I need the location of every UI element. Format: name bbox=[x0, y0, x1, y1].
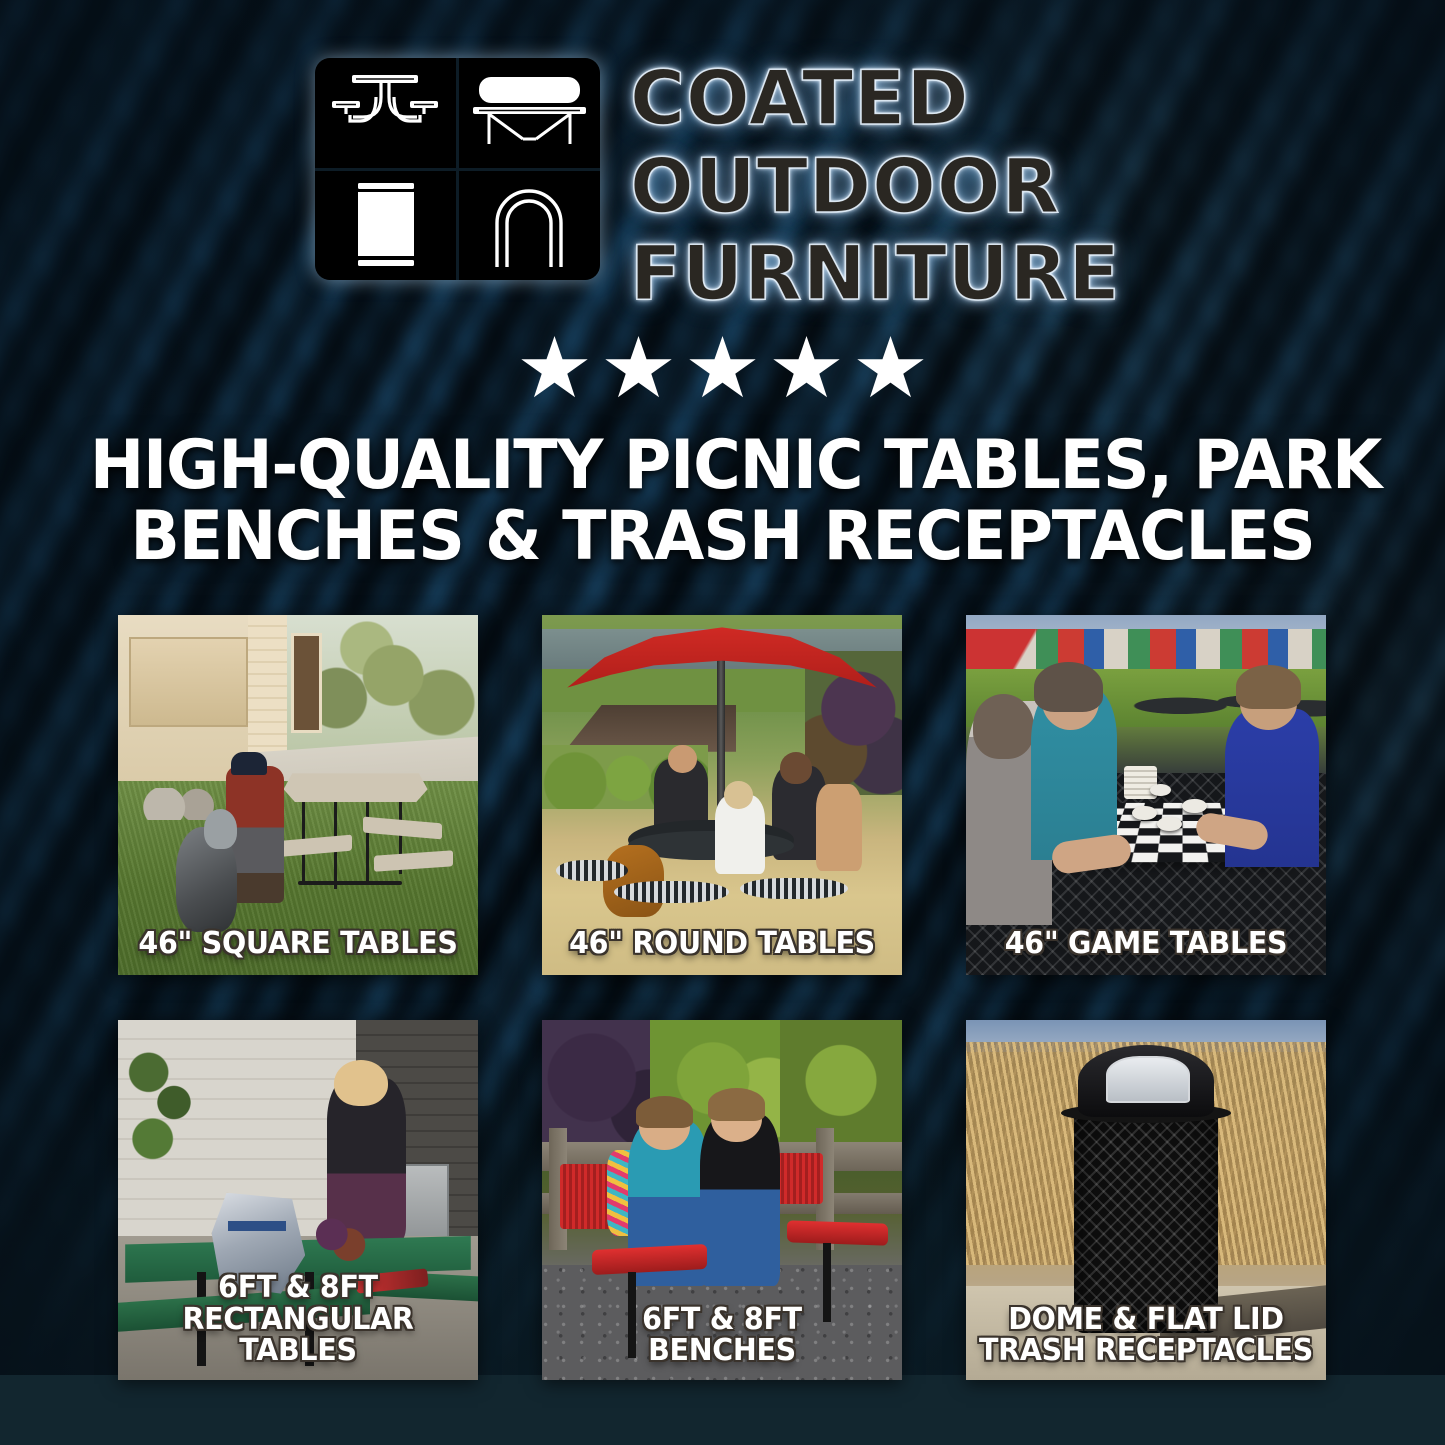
product-tile-square-tables[interactable]: 46" SQUARE TABLES bbox=[118, 615, 478, 975]
promotional-banner: COATED OUTDOOR FURNITURE HIGH-QUALITY PI… bbox=[0, 0, 1445, 1445]
brand-wordmark: COATED OUTDOOR FURNITURE bbox=[630, 58, 1130, 311]
tile-caption-line-1: DOME & FLAT LID bbox=[975, 1304, 1317, 1335]
star-icon bbox=[773, 336, 841, 402]
product-tile-rectangular-tables[interactable]: 6FT & 8FT RECTANGULAR TABLES bbox=[118, 1020, 478, 1380]
tile-caption-line-1: 46" SQUARE TABLES bbox=[127, 929, 469, 959]
product-category-grid: 46" SQUARE TABLES bbox=[118, 615, 1326, 1380]
headline-line-2: BENCHES & TRASH RECEPTACLES bbox=[90, 501, 1355, 572]
picnic-table-icon bbox=[315, 58, 456, 168]
wordmark-line-2: OUTDOOR bbox=[630, 150, 1060, 224]
product-tile-game-tables[interactable]: 46" GAME TABLES bbox=[966, 615, 1326, 975]
headline-line-1: HIGH-QUALITY PICNIC TABLES, PARK bbox=[90, 430, 1355, 501]
star-icon bbox=[689, 336, 757, 402]
park-bench-icon bbox=[459, 58, 600, 168]
star-icon bbox=[857, 336, 925, 402]
game-tables-photo bbox=[966, 615, 1326, 975]
tile-caption: 46" SQUARE TABLES bbox=[127, 929, 469, 959]
tile-caption: 6FT & 8FT RECTANGULAR TABLES bbox=[127, 1272, 469, 1366]
tile-caption-line-1: 6FT & 8FT bbox=[551, 1304, 893, 1335]
round-tables-photo bbox=[542, 615, 902, 975]
product-tile-benches[interactable]: 6FT & 8FT BENCHES bbox=[542, 1020, 902, 1380]
tile-caption-line-2: BENCHES bbox=[551, 1335, 893, 1366]
product-tile-round-tables[interactable]: 46" ROUND TABLES bbox=[542, 615, 902, 975]
tile-caption: DOME & FLAT LID TRASH RECEPTACLES bbox=[975, 1304, 1317, 1366]
star-icon bbox=[605, 336, 673, 402]
tile-caption-line-1: 6FT & 8FT bbox=[127, 1272, 469, 1303]
banner-content: COATED OUTDOOR FURNITURE HIGH-QUALITY PI… bbox=[0, 0, 1445, 1445]
tile-caption-line-2: RECTANGULAR TABLES bbox=[127, 1304, 469, 1366]
product-tile-trash-receptacles[interactable]: DOME & FLAT LID TRASH RECEPTACLES bbox=[966, 1020, 1326, 1380]
wordmark-line-1: COATED bbox=[630, 62, 970, 136]
trash-receptacle-icon bbox=[315, 171, 456, 281]
tile-caption: 46" GAME TABLES bbox=[975, 929, 1317, 959]
wordmark-line-3: FURNITURE bbox=[630, 237, 1121, 311]
logo-icon-grid bbox=[315, 58, 600, 280]
tile-caption-line-1: 46" ROUND TABLES bbox=[551, 929, 893, 959]
bike-rack-arch-icon bbox=[459, 171, 600, 281]
star-icon bbox=[521, 336, 589, 402]
tile-caption: 6FT & 8FT BENCHES bbox=[551, 1304, 893, 1366]
tile-caption-line-2: TRASH RECEPTACLES bbox=[975, 1335, 1317, 1366]
star-rating bbox=[0, 336, 1445, 402]
brand-logo: COATED OUTDOOR FURNITURE bbox=[0, 58, 1445, 311]
page-title: HIGH-QUALITY PICNIC TABLES, PARK BENCHES… bbox=[90, 430, 1355, 573]
tile-caption: 46" ROUND TABLES bbox=[551, 929, 893, 959]
square-tables-photo bbox=[118, 615, 478, 975]
tile-caption-line-1: 46" GAME TABLES bbox=[975, 929, 1317, 959]
